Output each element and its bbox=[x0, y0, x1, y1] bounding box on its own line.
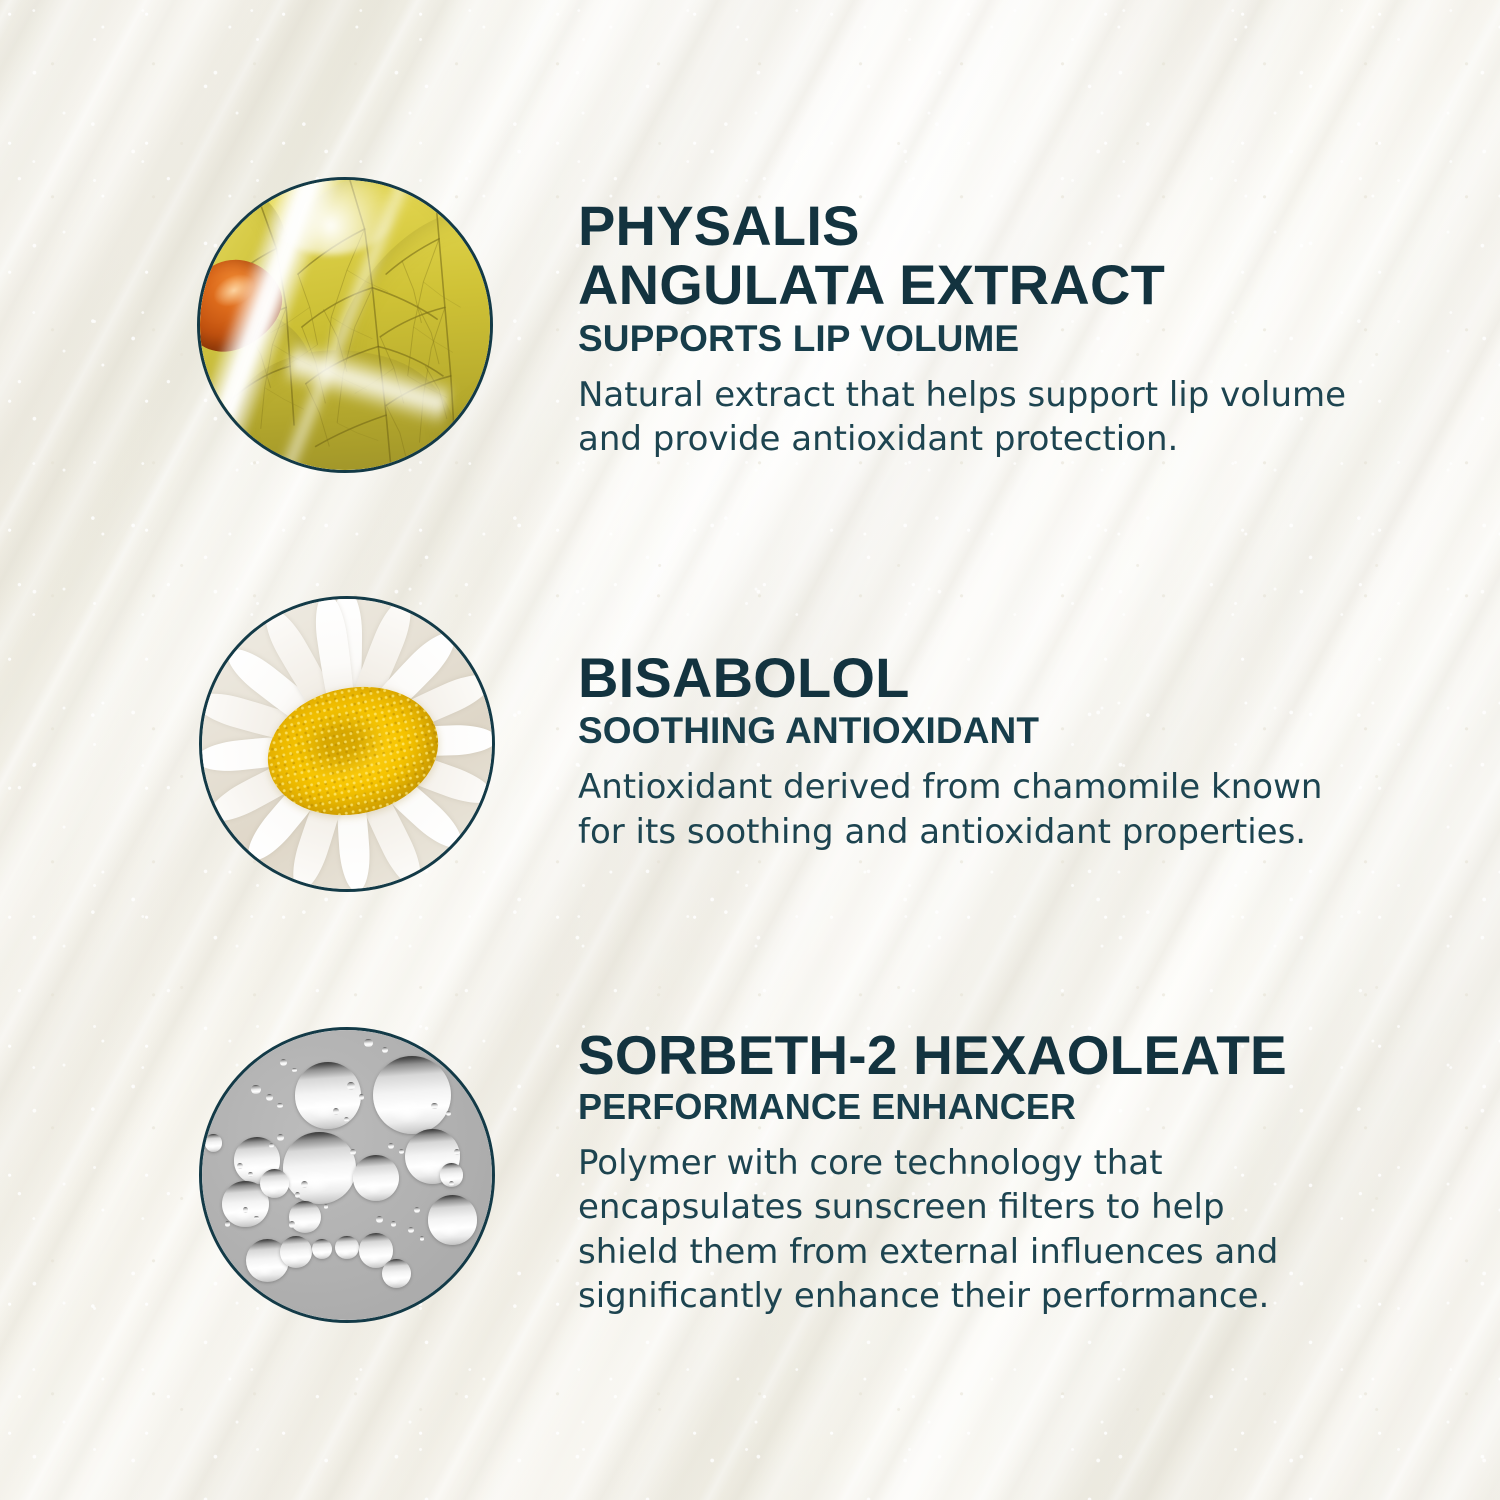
micro-bubble bbox=[237, 1163, 243, 1169]
bubble bbox=[353, 1155, 399, 1201]
bubble bbox=[373, 1056, 451, 1134]
infographic-page: PHYSALISANGULATA EXTRACT SUPPORTS LIP VO… bbox=[0, 0, 1500, 1500]
bubble bbox=[205, 1134, 222, 1151]
micro-bubble bbox=[295, 1192, 300, 1197]
ingredient-subtitle: PERFORMANCE ENHANCER bbox=[578, 1088, 1318, 1127]
micro-bubble bbox=[280, 1059, 287, 1066]
sorbeth-image-circle bbox=[199, 1027, 495, 1323]
micro-bubble bbox=[414, 1207, 420, 1213]
micro-bubble bbox=[347, 1082, 355, 1090]
micro-bubble bbox=[254, 1216, 258, 1220]
bubble bbox=[382, 1259, 411, 1288]
sorbeth-text-block: SORBETH-2 HEXAOLEATE PERFORMANCE ENHANCE… bbox=[578, 1026, 1318, 1318]
bubble bbox=[289, 1201, 321, 1233]
micro-bubble bbox=[391, 1221, 396, 1226]
micro-bubble bbox=[388, 1143, 394, 1149]
micro-bubble bbox=[301, 1181, 308, 1188]
micro-bubble bbox=[364, 1039, 373, 1048]
micro-bubble bbox=[420, 1236, 425, 1241]
micro-bubble bbox=[277, 1103, 283, 1109]
micro-bubble bbox=[251, 1085, 260, 1094]
ingredient-row-sorbeth: SORBETH-2 HEXAOLEATE PERFORMANCE ENHANCE… bbox=[0, 0, 1500, 1500]
micro-bubble bbox=[248, 1172, 253, 1177]
micro-bubble bbox=[359, 1094, 365, 1100]
micro-bubble bbox=[408, 1227, 414, 1233]
micro-bubble bbox=[266, 1094, 273, 1101]
bubble bbox=[295, 1062, 362, 1129]
micro-bubble bbox=[446, 1111, 451, 1116]
bubble bbox=[335, 1236, 358, 1259]
bubble bbox=[312, 1239, 332, 1259]
micro-bubble bbox=[292, 1068, 297, 1073]
micro-bubble bbox=[225, 1221, 230, 1226]
micro-bubble bbox=[324, 1204, 329, 1209]
micro-bubble bbox=[333, 1108, 339, 1114]
micro-bubble bbox=[243, 1207, 249, 1213]
bubble bbox=[280, 1236, 312, 1268]
micro-bubble bbox=[350, 1149, 356, 1155]
bubble bbox=[260, 1169, 289, 1198]
micro-bubble bbox=[454, 1149, 460, 1155]
bubble bbox=[428, 1195, 477, 1244]
micro-bubble bbox=[277, 1134, 284, 1141]
micro-bubble bbox=[376, 1216, 383, 1223]
ingredient-description: Polymer with core technology that encaps… bbox=[578, 1141, 1318, 1318]
ingredient-title: SORBETH-2 HEXAOLEATE bbox=[578, 1026, 1318, 1084]
micro-bubble bbox=[382, 1047, 388, 1053]
micro-bubble bbox=[449, 1181, 454, 1186]
micro-bubble bbox=[399, 1149, 404, 1154]
encapsulated-bubbles-photo bbox=[202, 1030, 492, 1320]
